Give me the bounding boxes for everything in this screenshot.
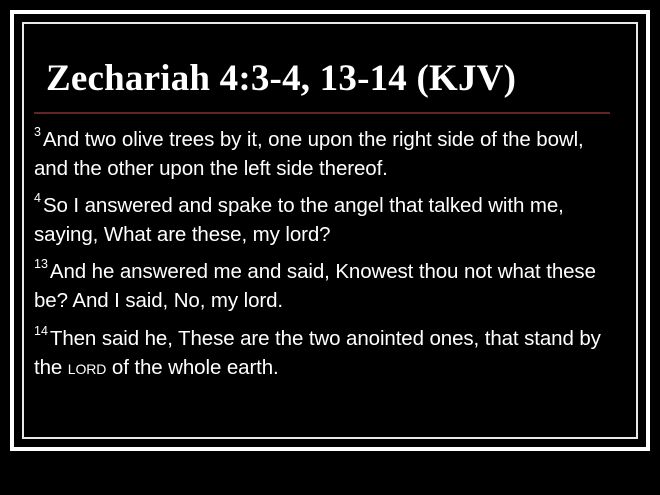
- verse-paragraph: 3And two olive trees by it, one upon the…: [34, 124, 622, 183]
- verse-paragraph: 4So I answered and spake to the angel th…: [34, 190, 622, 249]
- verse-number: 4: [34, 191, 43, 205]
- verse-paragraph: 14Then said he, These are the two anoint…: [34, 323, 622, 382]
- verse-text: And he answered me and said, Knowest tho…: [34, 260, 596, 312]
- verse-list: 3And two olive trees by it, one upon the…: [32, 114, 628, 382]
- divine-name-smallcaps: Lord: [68, 356, 107, 379]
- verse-number: 3: [34, 125, 43, 139]
- verse-number: 13: [34, 257, 50, 271]
- verse-text: So I answered and spake to the angel tha…: [34, 194, 564, 246]
- verse-paragraph: 13And he answered me and said, Knowest t…: [34, 256, 622, 315]
- verse-text-continued: of the whole earth.: [106, 356, 278, 379]
- page-title: Zechariah 4:3-4, 13-14 (KJV): [32, 28, 628, 99]
- verse-number: 14: [34, 324, 50, 338]
- slide-content: Zechariah 4:3-4, 13-14 (KJV) 3And two ol…: [32, 28, 628, 433]
- verse-text: And two olive trees by it, one upon the …: [34, 128, 584, 180]
- slide-root: Zechariah 4:3-4, 13-14 (KJV) 3And two ol…: [0, 0, 660, 495]
